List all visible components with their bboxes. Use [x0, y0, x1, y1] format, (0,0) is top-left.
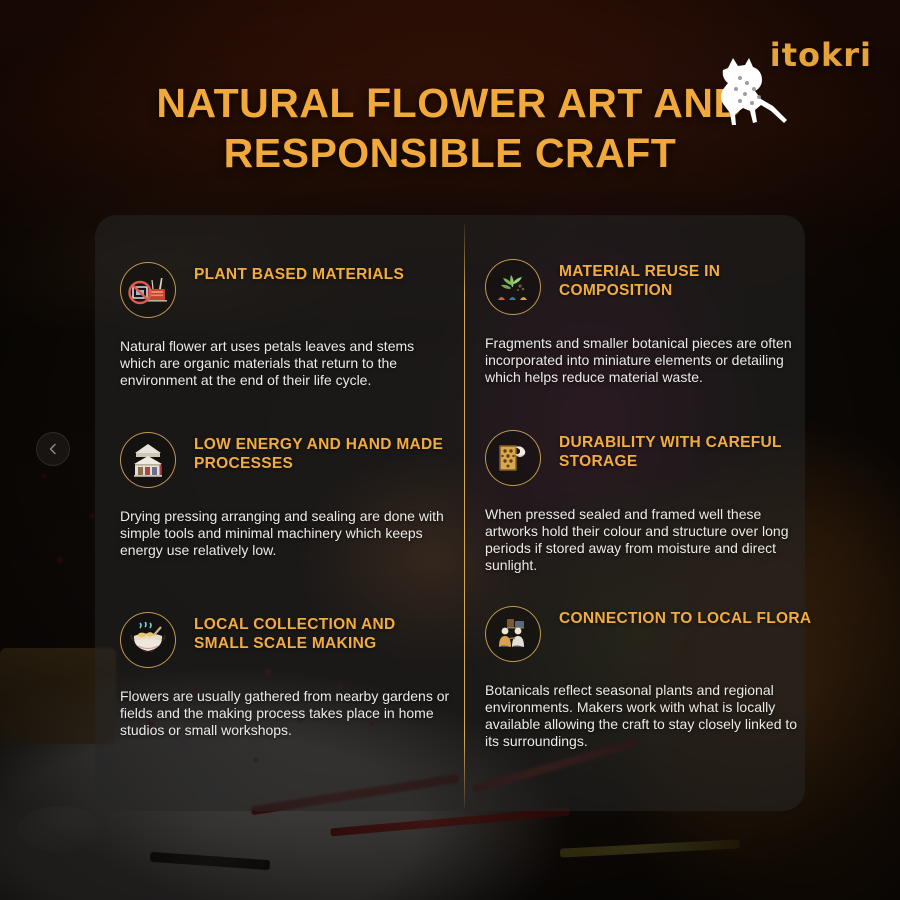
page-title: NATURAL FLOWER ART AND RESPONSIBLE CRAFT [90, 78, 810, 178]
feature-body: Drying pressing arranging and sealing ar… [120, 508, 450, 559]
title-line-2: RESPONSIBLE CRAFT [90, 128, 810, 178]
feature-body: Natural flower art uses petals leaves an… [120, 338, 450, 389]
chevron-left-icon [47, 443, 59, 455]
leopard-icon [714, 56, 792, 130]
block-print-stamp-icon [485, 430, 541, 486]
two-artisans-icon [485, 606, 541, 662]
natural-dye-leaves-icon [485, 259, 541, 315]
feature-title: LOCAL COLLECTION AND SMALL SCALE MAKING [194, 615, 450, 653]
feature-title: CONNECTION TO LOCAL FLORA [559, 609, 815, 628]
feature-body: Fragments and smaller botanical pieces a… [485, 335, 805, 386]
feature-title: MATERIAL REUSE IN COMPOSITION [559, 262, 815, 300]
feature-title: LOW ENERGY AND HAND MADE PROCESSES [194, 435, 450, 473]
feature-body: Flowers are usually gathered from nearby… [120, 688, 450, 739]
dye-pot-icon [120, 612, 176, 668]
feature-body: When pressed sealed and framed well thes… [485, 506, 805, 574]
column-divider [464, 224, 465, 808]
feature-body: Botanicals reflect seasonal plants and r… [485, 682, 805, 750]
feature-title: DURABILITY WITH CAREFUL STORAGE [559, 433, 815, 471]
carousel-prev-button[interactable] [36, 432, 70, 466]
brand-logo[interactable]: itokri [714, 30, 874, 130]
no-factory-icon [120, 262, 176, 318]
infographic-banner: NATURAL FLOWER ART AND RESPONSIBLE CRAFT… [0, 0, 900, 900]
craft-workshop-building-icon [120, 432, 176, 488]
feature-title: PLANT BASED MATERIALS [194, 265, 450, 284]
title-line-1: NATURAL FLOWER ART AND [90, 78, 810, 128]
